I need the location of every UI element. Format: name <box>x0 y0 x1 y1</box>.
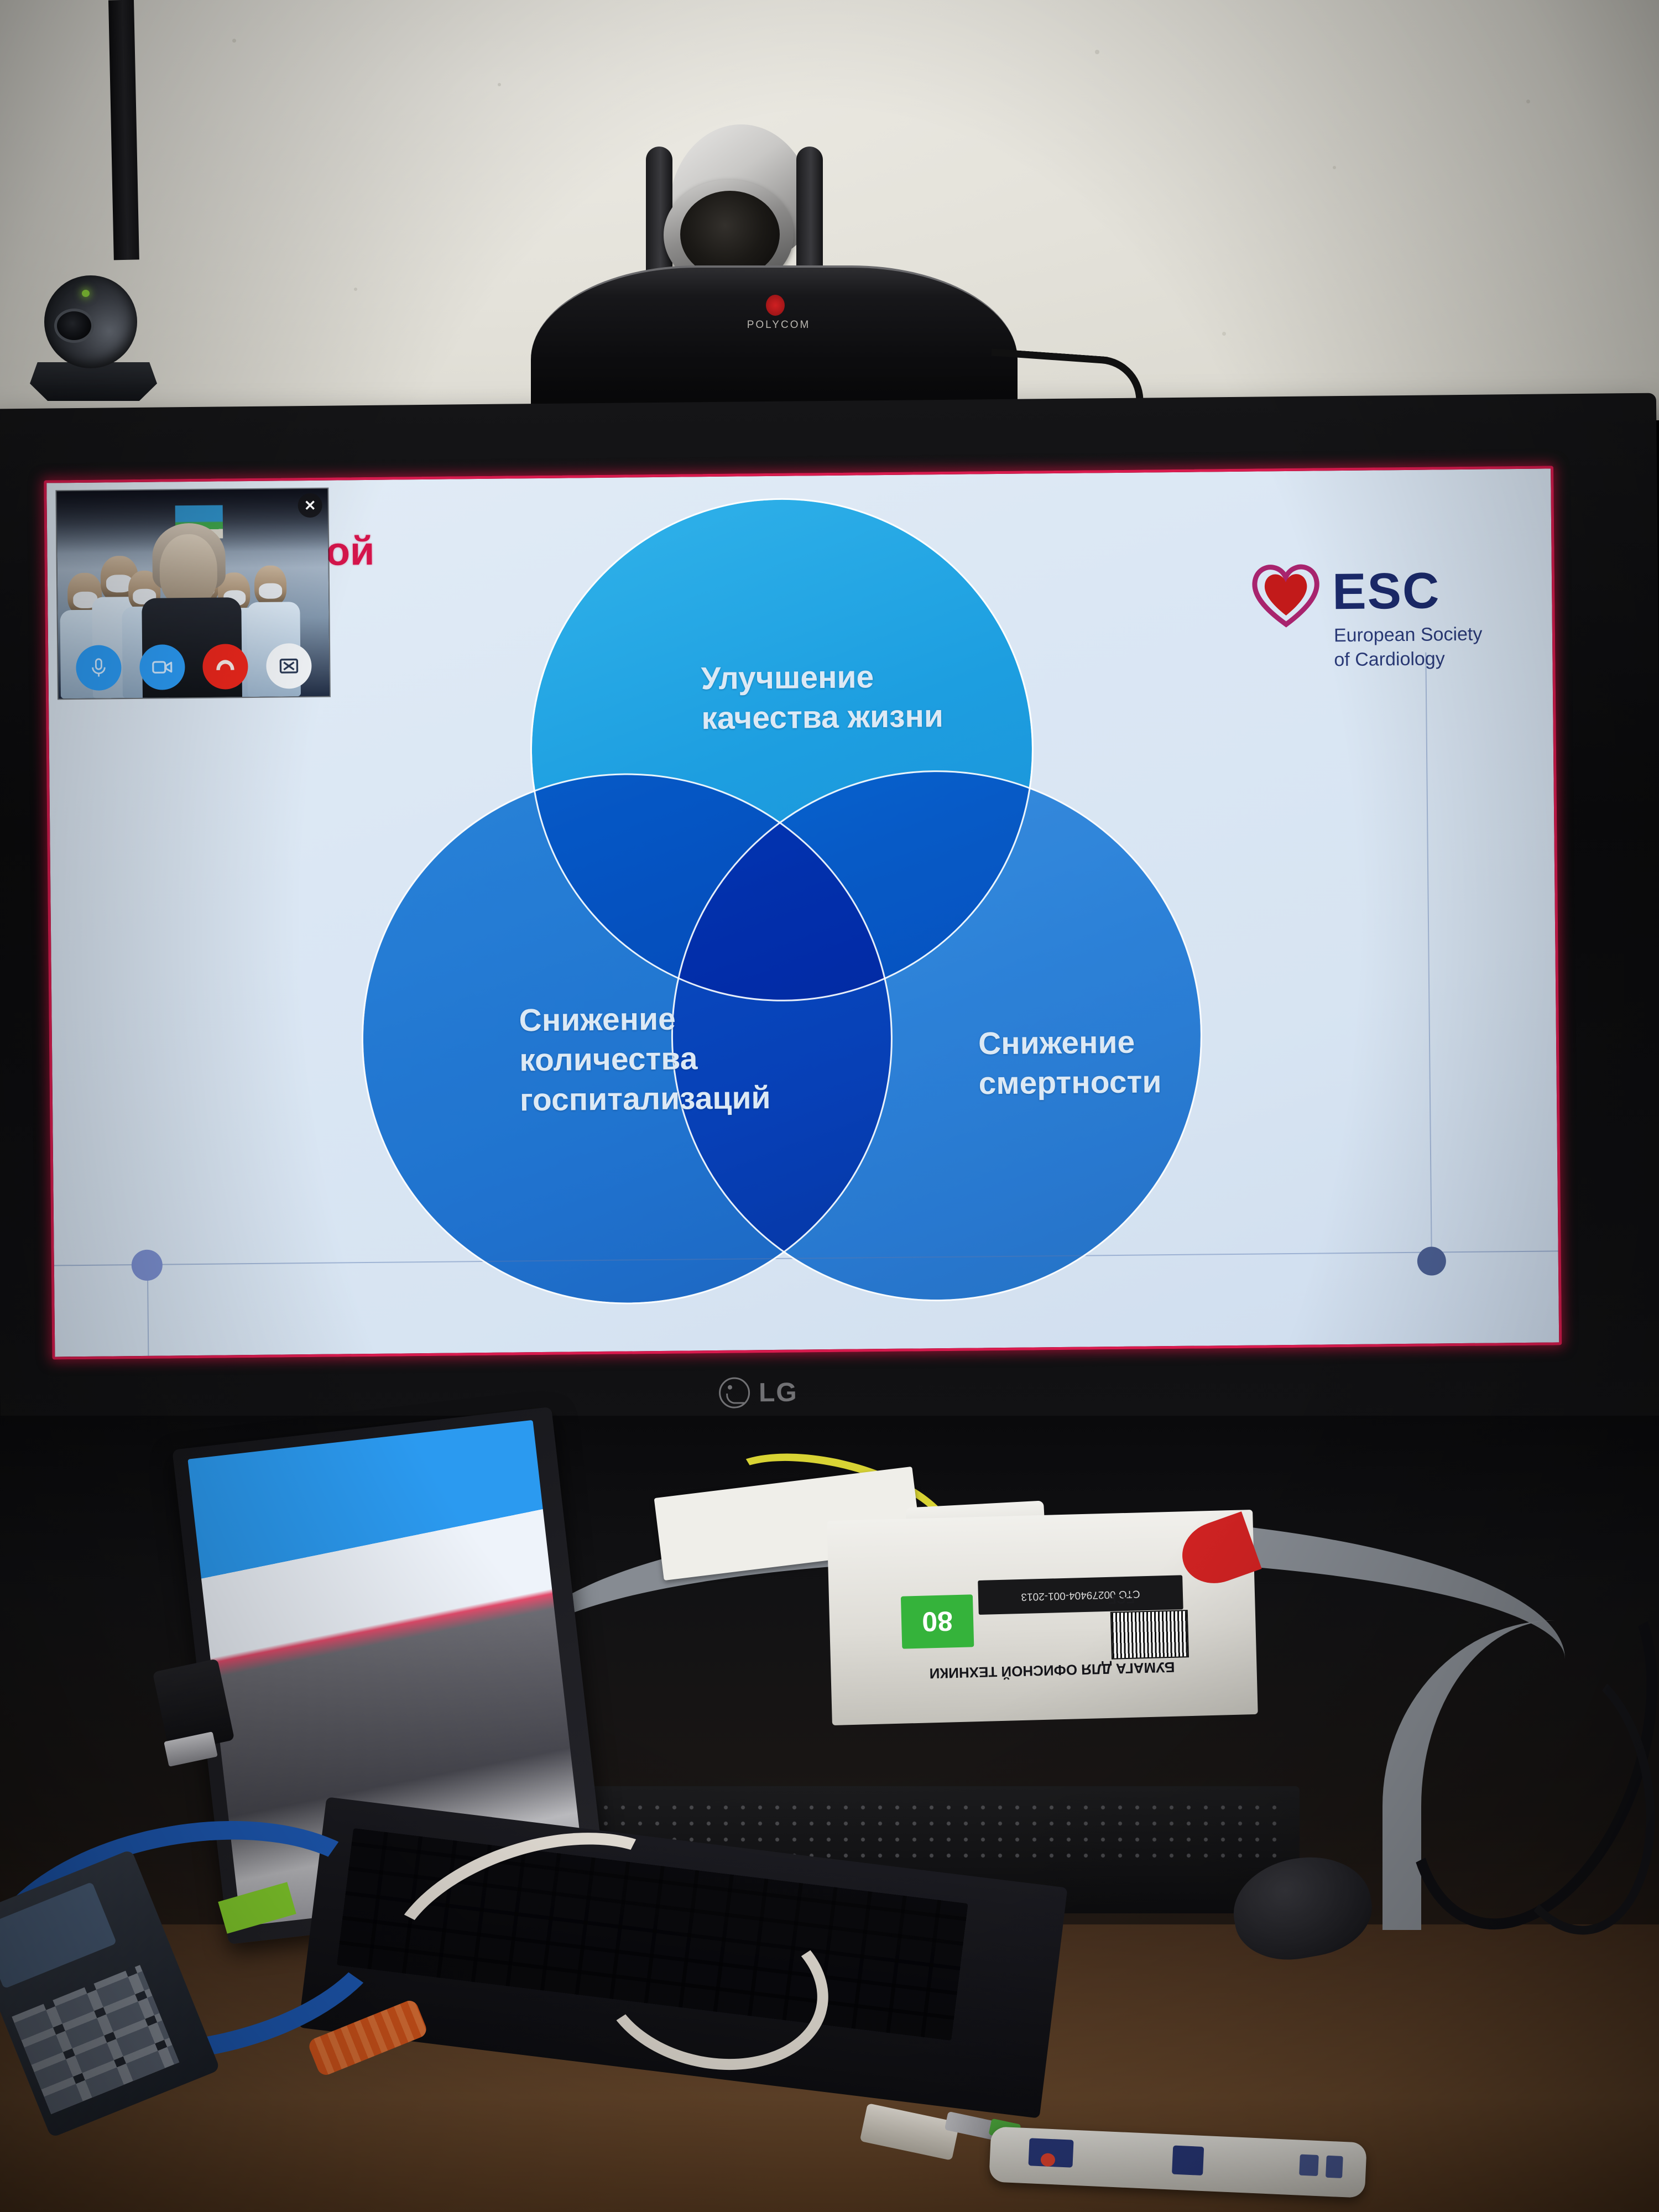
lg-monitor: пии сердечнойности Улучшениекачества жиз… <box>0 393 1659 1460</box>
remote-nav-button-2[interactable] <box>1326 2156 1343 2178</box>
polycom-logo-icon <box>766 295 785 316</box>
webcam-led-indicator <box>82 290 90 297</box>
polycom-brand-text: POLYCOM <box>743 319 815 331</box>
decor-dot-left <box>132 1250 163 1281</box>
paper-box-barcode <box>1110 1610 1189 1660</box>
venn-label-left: Снижениеколичествагоспитализаций <box>519 998 830 1120</box>
remote-nav-button-1[interactable] <box>1299 2154 1319 2176</box>
microphone-icon <box>88 656 110 679</box>
mount-pole <box>108 0 139 260</box>
venn-diagram: Улучшениекачества жизни Снижениеколичест… <box>356 477 1305 1348</box>
desk-phone-screen <box>0 1882 117 1989</box>
stop-share-button[interactable] <box>266 643 312 689</box>
paper-box-product-name: БУМАГА ДЛЯ ОФИСНОЙ ТЕХНИКИ <box>897 1657 1207 1683</box>
hang-up-button[interactable] <box>202 644 248 690</box>
stop-share-icon <box>278 655 300 677</box>
camera-bracket-right <box>796 147 823 279</box>
esc-fullname-line1: European Society <box>1334 623 1483 648</box>
paper-box: 80 СТО 00279404-001-2013 ECF БУМАГА ДЛЯ … <box>827 1510 1258 1725</box>
paper-box-red-sticker <box>1173 1511 1261 1593</box>
paper-box-grammage-value: 80 <box>901 1594 974 1648</box>
remote-power-button[interactable] <box>1028 2138 1073 2167</box>
webcam <box>33 260 188 426</box>
video-call-controls <box>58 643 330 691</box>
esc-heart-icon <box>1250 562 1322 628</box>
paper-box-ecf-mark: ECF <box>1108 1590 1135 1606</box>
paper-box-code-text: СТО 00279404-001-2013 <box>978 1575 1183 1615</box>
decor-dot-right <box>1417 1246 1446 1275</box>
desk-phone-keypad[interactable] <box>12 1965 179 2114</box>
esc-logo: ESC European Society of Cardiology <box>1250 561 1489 696</box>
remote-menu-button[interactable] <box>1172 2146 1204 2176</box>
esc-fullname-line2: of Cardiology <box>1334 646 1483 672</box>
lg-face-icon <box>719 1377 750 1408</box>
venn-label-right: Снижениесмертности <box>978 1022 1244 1104</box>
esc-fullname: European Society of Cardiology <box>1334 623 1483 672</box>
esc-acronym: ESC <box>1332 565 1441 617</box>
venn-label-top: Улучшениекачества жизни <box>701 655 1088 738</box>
video-camera-icon <box>150 655 174 679</box>
video-call-overlay[interactable]: ✕ <box>56 489 330 699</box>
hang-up-icon <box>213 654 237 679</box>
camera-button[interactable] <box>139 644 185 690</box>
paper-box-code-strip: СТО 00279404-001-2013 <box>978 1575 1183 1615</box>
presentation-slide: пии сердечнойности Улучшениекачества жиз… <box>46 468 1559 1357</box>
close-icon[interactable]: ✕ <box>298 493 322 518</box>
room-photo: POLYCOM пии сердечнойности Улучшениекаче… <box>0 0 1659 2212</box>
lg-brand-badge: LG <box>719 1372 874 1412</box>
paper-box-grammage-badge: 80 <box>901 1594 974 1648</box>
webcam-lens-icon <box>54 309 94 343</box>
lg-brand-text: LG <box>759 1377 798 1408</box>
polycom-conference-camera: POLYCOM <box>531 124 1018 423</box>
presenter-head <box>159 534 217 607</box>
decor-hairline-vertical-right <box>1425 653 1432 1261</box>
microphone-button[interactable] <box>76 645 122 691</box>
